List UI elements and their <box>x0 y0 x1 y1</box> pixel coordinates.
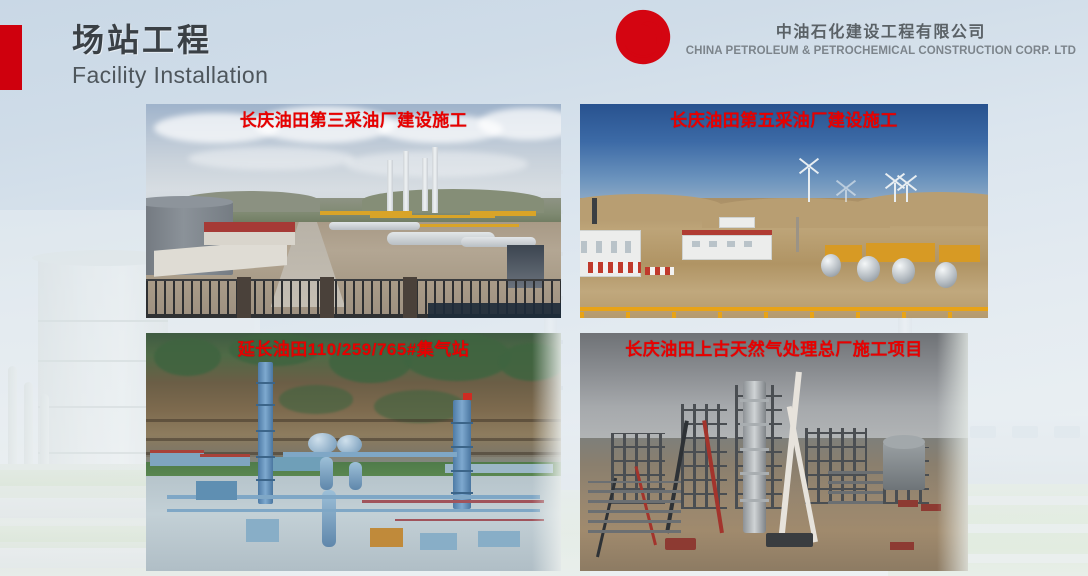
photo-changqing-no3-plant[interactable]: 长庆油田第三采油厂建设施工 <box>146 104 561 318</box>
photo-2-caption: 长庆油田第五采油厂建设施工 <box>580 106 988 131</box>
photo-4-caption: 长庆油田上古天然气处理总厂施工项目 <box>580 335 968 360</box>
company-name-block: 中油石化建设工程有限公司 CHINA PETROLEUM & PETROCHEM… <box>686 18 1076 57</box>
accent-red-bar <box>0 25 22 90</box>
company-name-cn: 中油石化建设工程有限公司 <box>686 18 1076 42</box>
photo-3-caption: 延长油田110/259/765#集气站 <box>146 335 561 360</box>
photo-1-scene <box>146 104 561 318</box>
page-subtitle: Facility Installation <box>72 61 268 90</box>
photo-shanggu-gas-plant[interactable]: 长庆油田上古天然气处理总厂施工项目 <box>580 333 968 571</box>
china-petroleum-logo-icon <box>614 8 672 66</box>
slide-title-block: 场站工程 Facility Installation <box>72 22 268 90</box>
company-name-en: CHINA PETROLEUM & PETROCHEMICAL CONSTRUC… <box>686 45 1076 57</box>
brand-header: 中油石化建设工程有限公司 CHINA PETROLEUM & PETROCHEM… <box>614 8 1076 66</box>
photo-yanchang-gas-station[interactable]: 延长油田110/259/765#集气站 <box>146 333 561 571</box>
slide-canvas: 场站工程 Facility Installation 中油石化建设工程有限公司 … <box>0 0 1088 576</box>
photo-1-caption: 长庆油田第三采油厂建设施工 <box>146 106 561 131</box>
page-title: 场站工程 <box>72 22 268 60</box>
photo-changqing-no5-plant[interactable]: 长庆油田第五采油厂建设施工 <box>580 104 988 318</box>
